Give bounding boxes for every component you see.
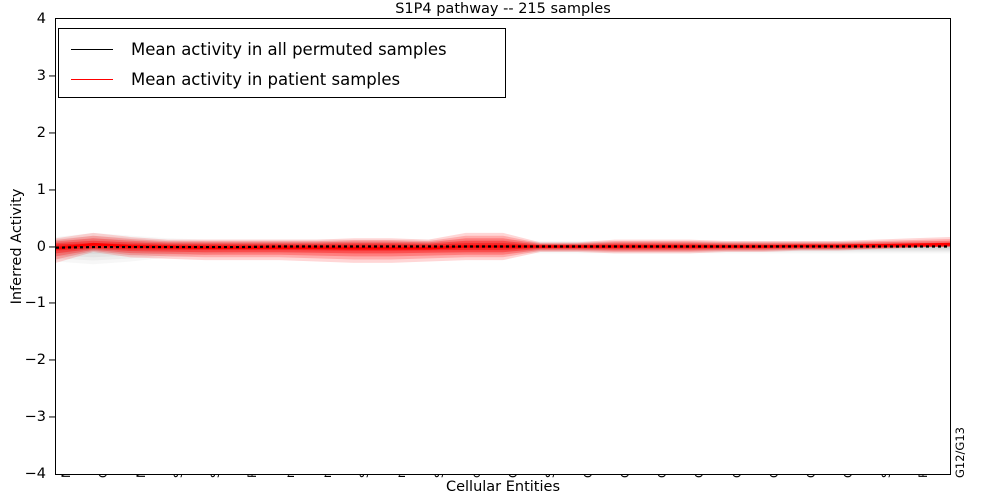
chart-title: S1P4 pathway -- 215 samples <box>55 1 951 17</box>
y-tick-label: −3 <box>25 409 46 425</box>
y-tick-label: −1 <box>25 295 46 311</box>
y-tick-label: −4 <box>25 466 46 482</box>
y-tick-label: 1 <box>37 182 46 198</box>
chart-legend: Mean activity in all permuted samples Me… <box>58 28 506 98</box>
y-tick-label: 4 <box>37 11 46 27</box>
x-axis-label: Cellular Entities <box>55 479 951 495</box>
legend-line-swatch-permuted <box>71 49 113 50</box>
chart-figure: S1P4 pathway -- 215 samples Inferred Act… <box>0 0 1000 500</box>
legend-line-swatch-patient <box>71 79 113 80</box>
y-tick-label: 3 <box>37 68 46 84</box>
y-axis-label: Inferred Activity <box>9 18 29 475</box>
legend-label-permuted: Mean activity in all permuted samples <box>131 40 447 59</box>
legend-entry-patient: Mean activity in patient samples <box>71 64 400 94</box>
x-tick-label: G12/G13 <box>955 427 967 478</box>
y-tick-label: −2 <box>25 352 46 368</box>
legend-entry-permuted: Mean activity in all permuted samples <box>71 34 447 64</box>
y-tick-label: 0 <box>37 239 46 255</box>
legend-label-patient: Mean activity in patient samples <box>131 70 400 89</box>
y-tick-label: 2 <box>37 125 46 141</box>
